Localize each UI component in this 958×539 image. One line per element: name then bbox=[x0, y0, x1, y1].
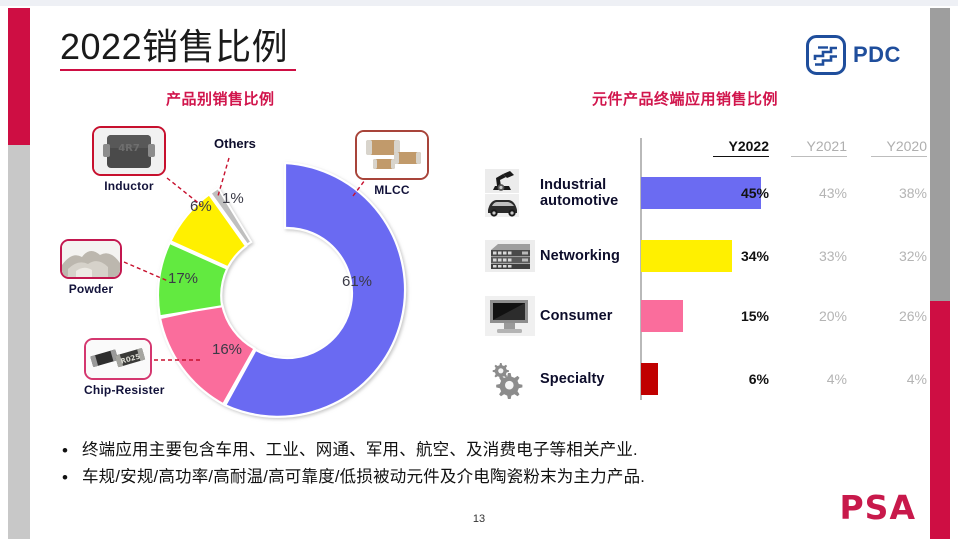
page-title-text: 2022销售比例 bbox=[60, 26, 296, 67]
page-number: 13 bbox=[0, 513, 958, 525]
psa-logo: PSA bbox=[840, 488, 917, 527]
product-callout-powder: Powder bbox=[60, 239, 122, 296]
column-header-y2021: Y2021 bbox=[791, 138, 847, 157]
left-section-subtitle: 产品别销售比例 bbox=[166, 88, 275, 109]
product-label-chip-resister: Chip-Resister bbox=[84, 383, 165, 397]
donut-slice-mlcc bbox=[225, 163, 405, 417]
network-switch-icon bbox=[482, 231, 538, 281]
bullet-text-1: 终端应用主要包含车用、工业、网通、军用、航空、及消费电子等相关产业. bbox=[82, 440, 638, 461]
bullet-list: • 终端应用主要包含车用、工业、网通、军用、航空、及消费电子等相关产业. • 车… bbox=[62, 440, 882, 495]
column-header-y2020: Y2020 bbox=[871, 138, 927, 157]
product-callout-inductor: 4R7 Inductor bbox=[92, 126, 166, 193]
value-specialty-y2020: 4% bbox=[871, 371, 927, 387]
end-application-bar-chart: Y2022 Y2021 Y2020 bbox=[478, 128, 933, 408]
product-label-mlcc: MLCC bbox=[355, 183, 429, 197]
product-label-powder: Powder bbox=[60, 282, 122, 296]
left-accent-bar-red bbox=[8, 8, 30, 145]
monitor-icon bbox=[482, 291, 538, 341]
app-label-networking: Networking bbox=[540, 248, 638, 264]
app-row-networking: Networking 34% 33% 32% bbox=[478, 227, 933, 285]
mlcc-image-frame bbox=[355, 130, 429, 180]
app-row-industrial-automotive: Industrial automotive 45% 43% 38% bbox=[478, 164, 933, 222]
app-row-consumer: Consumer 15% 20% 26% bbox=[478, 287, 933, 345]
value-networking-y2020: 32% bbox=[871, 248, 927, 264]
value-networking-y2022: 34% bbox=[713, 248, 769, 264]
inductor-image-frame: 4R7 bbox=[92, 126, 166, 176]
page-title: 2022销售比例 bbox=[60, 26, 296, 71]
pdc-logo-text: PDC bbox=[853, 42, 901, 68]
industrial-robot-car-icon bbox=[482, 168, 538, 218]
gears-icon bbox=[482, 354, 538, 404]
value-consumer-y2020: 26% bbox=[871, 308, 927, 324]
donut-label-others: Others bbox=[214, 136, 256, 151]
pdc-stack-icon bbox=[806, 35, 846, 75]
column-header-y2022: Y2022 bbox=[713, 138, 769, 157]
year-column-headers: Y2022 Y2021 Y2020 bbox=[478, 138, 933, 160]
mlcc-capacitor-icon bbox=[357, 132, 427, 178]
top-hairline bbox=[0, 0, 958, 6]
bullet-dot-icon: • bbox=[62, 467, 68, 488]
value-industrial-automotive-y2021: 43% bbox=[791, 185, 847, 201]
powder-image-frame bbox=[60, 239, 122, 279]
app-label-consumer: Consumer bbox=[540, 308, 638, 324]
bar-specialty bbox=[641, 363, 658, 395]
ceramic-powder-icon bbox=[62, 241, 120, 277]
bar-consumer bbox=[641, 300, 683, 332]
product-callout-chip-resister: R025 Chip-Resister bbox=[84, 338, 165, 397]
bullet-item: • 车规/安规/高功率/高耐温/高可靠度/低损被动元件及介电陶瓷粉末为主力产品. bbox=[62, 467, 882, 488]
pdc-logo: PDC bbox=[806, 35, 901, 75]
value-industrial-automotive-y2020: 38% bbox=[871, 185, 927, 201]
value-networking-y2021: 33% bbox=[791, 248, 847, 264]
app-row-specialty: Specialty 6% 4% 4% bbox=[478, 350, 933, 408]
chip-resistor-icon: R025 bbox=[86, 340, 150, 378]
svg-text:4R7: 4R7 bbox=[118, 143, 140, 154]
title-underline bbox=[60, 69, 296, 71]
app-label-specialty: Specialty bbox=[540, 371, 638, 387]
bullet-dot-icon: • bbox=[62, 440, 68, 461]
product-callout-mlcc: MLCC bbox=[355, 130, 429, 197]
bullet-item: • 终端应用主要包含车用、工业、网通、军用、航空、及消费电子等相关产业. bbox=[62, 440, 882, 461]
slide-canvas: 2022销售比例 PDC 产品别销售比例 元件产品终端应用销售比例 bbox=[0, 0, 958, 539]
value-industrial-automotive-y2022: 45% bbox=[713, 185, 769, 201]
value-consumer-y2021: 20% bbox=[791, 308, 847, 324]
right-accent-bar-red bbox=[930, 301, 950, 539]
right-section-subtitle: 元件产品终端应用销售比例 bbox=[592, 88, 778, 109]
value-consumer-y2022: 15% bbox=[713, 308, 769, 324]
value-specialty-y2021: 4% bbox=[791, 371, 847, 387]
product-label-inductor: Inductor bbox=[92, 179, 166, 193]
left-accent-bar-gray bbox=[8, 145, 30, 539]
right-accent-bar-gray bbox=[930, 8, 950, 301]
bullet-text-2: 车规/安规/高功率/高耐温/高可靠度/低损被动元件及介电陶瓷粉末为主力产品. bbox=[82, 467, 645, 488]
app-label-industrial-automotive: Industrial automotive bbox=[540, 177, 638, 209]
chip-resistor-image-frame: R025 bbox=[84, 338, 152, 380]
value-specialty-y2022: 6% bbox=[713, 371, 769, 387]
inductor-component-icon: 4R7 bbox=[94, 128, 164, 174]
